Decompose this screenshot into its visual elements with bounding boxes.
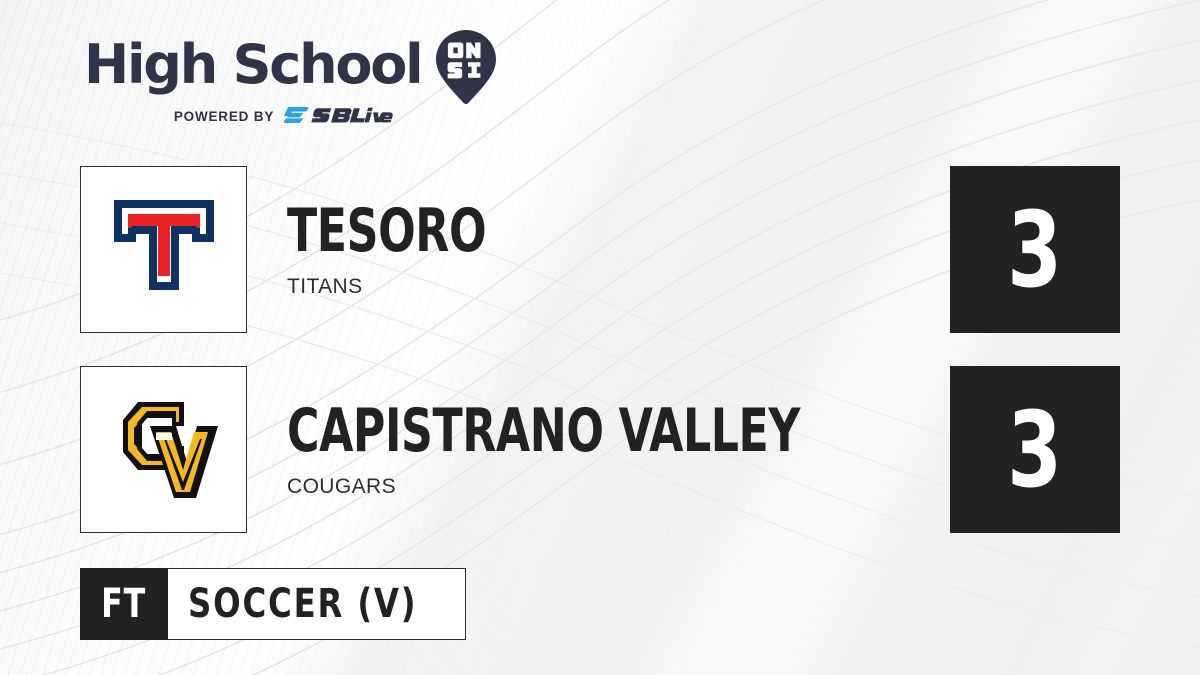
status-badge-label: FT: [101, 584, 146, 624]
team-row: CAPISTRANO VALLEY COUGARS 3: [80, 366, 1120, 534]
tesoro-titans-logo-icon: [80, 166, 247, 333]
team-mascot: TITANS: [287, 275, 530, 299]
capistrano-valley-cougars-logo-icon: [80, 366, 247, 533]
team-info: TESORO TITANS: [287, 166, 530, 333]
scoreboard-graphic: High School POWERED BY: [0, 0, 1200, 675]
powered-by-row: POWERED BY: [84, 104, 484, 128]
game-status-bar: FT SOCCER (V): [80, 568, 466, 640]
team-score-box: 3: [950, 366, 1120, 533]
team-info: CAPISTRANO VALLEY COUGARS: [287, 366, 913, 533]
brand-primary-row: High School: [84, 34, 514, 96]
team-score: 3: [1008, 398, 1063, 502]
team-score: 3: [1008, 198, 1063, 302]
on-si-pin-icon: [435, 29, 497, 105]
team-mascot: COUGARS: [287, 475, 913, 499]
team-name: TESORO: [287, 201, 486, 261]
team-score-box: 3: [950, 166, 1120, 333]
sblive-logo-icon: [284, 105, 394, 127]
sport-label: SOCCER (V): [188, 584, 417, 624]
team-name: CAPISTRANO VALLEY: [287, 401, 800, 461]
team-row: TESORO TITANS 3: [80, 166, 1120, 334]
brand-wordmark: High School: [84, 36, 421, 94]
brand-lockup: High School POWERED BY: [84, 34, 514, 142]
powered-by-label: POWERED BY: [174, 109, 274, 124]
sport-label-box: SOCCER (V): [168, 568, 466, 640]
status-badge: FT: [80, 568, 168, 640]
